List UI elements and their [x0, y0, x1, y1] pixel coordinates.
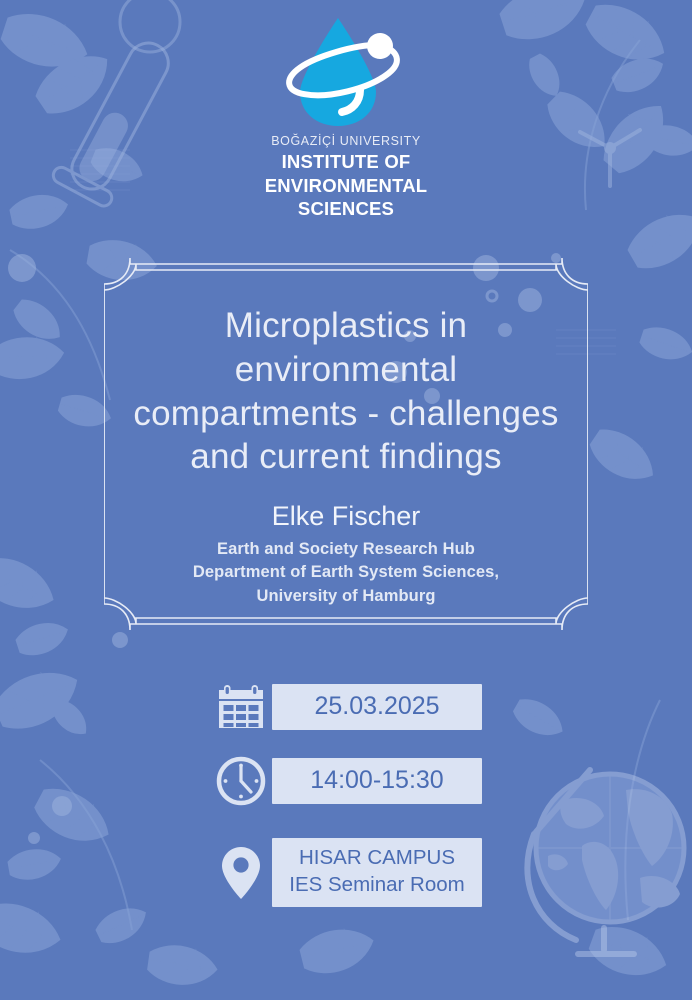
speaker-affiliation: Earth and Society Research Hub Departmen…	[118, 538, 574, 608]
event-location-line-2: IES Seminar Room	[278, 872, 476, 899]
institute-name-line-1: INSTITUTE OF	[265, 150, 428, 174]
water-droplet-orbit-icon	[276, 12, 416, 130]
talk-title-line-3: compartments - challenges	[118, 392, 574, 436]
event-time-box: 14:00-15:30	[272, 758, 482, 804]
affiliation-line-1: Earth and Society Research Hub	[118, 538, 574, 561]
event-time-row: 14:00-15:30	[210, 750, 482, 812]
university-name: BOĞAZİÇİ UNIVERSITY	[271, 134, 421, 148]
event-time-value: 14:00-15:30	[310, 766, 443, 794]
map-pin-icon	[210, 842, 272, 904]
seminar-poster: BOĞAZİÇİ UNIVERSITY INSTITUTE OF ENVIRON…	[0, 0, 692, 1000]
institute-name: INSTITUTE OF ENVIRONMENTAL SCIENCES	[265, 150, 428, 221]
event-details: 25.03.2025	[0, 676, 692, 907]
event-location-row: HISAR CAMPUS IES Seminar Room	[210, 838, 482, 907]
event-location-line-1: HISAR CAMPUS	[278, 845, 476, 872]
clock-icon	[210, 750, 272, 812]
affiliation-line-2: Department of Earth System Sciences,	[118, 561, 574, 584]
talk-title: Microplastics in environmental compartme…	[118, 304, 574, 479]
talk-title-line-2: environmental	[118, 348, 574, 392]
event-location-box: HISAR CAMPUS IES Seminar Room	[272, 838, 482, 907]
calendar-icon	[210, 676, 272, 738]
event-date-value: 25.03.2025	[314, 692, 439, 720]
institute-logo-block: BOĞAZİÇİ UNIVERSITY INSTITUTE OF ENVIRON…	[0, 0, 692, 221]
event-date-box: 25.03.2025	[272, 684, 482, 730]
title-cartouche: Microplastics in environmental compartme…	[104, 258, 588, 630]
talk-title-line-1: Microplastics in	[118, 304, 574, 348]
title-text-block: Microplastics in environmental compartme…	[104, 304, 588, 608]
event-date-row: 25.03.2025	[210, 676, 482, 738]
institute-name-line-2: ENVIRONMENTAL	[265, 174, 428, 198]
speaker-name: Elke Fischer	[118, 501, 574, 532]
talk-title-line-4: and current findings	[118, 435, 574, 479]
institute-name-line-3: SCIENCES	[265, 197, 428, 221]
affiliation-line-3: University of Hamburg	[118, 585, 574, 608]
